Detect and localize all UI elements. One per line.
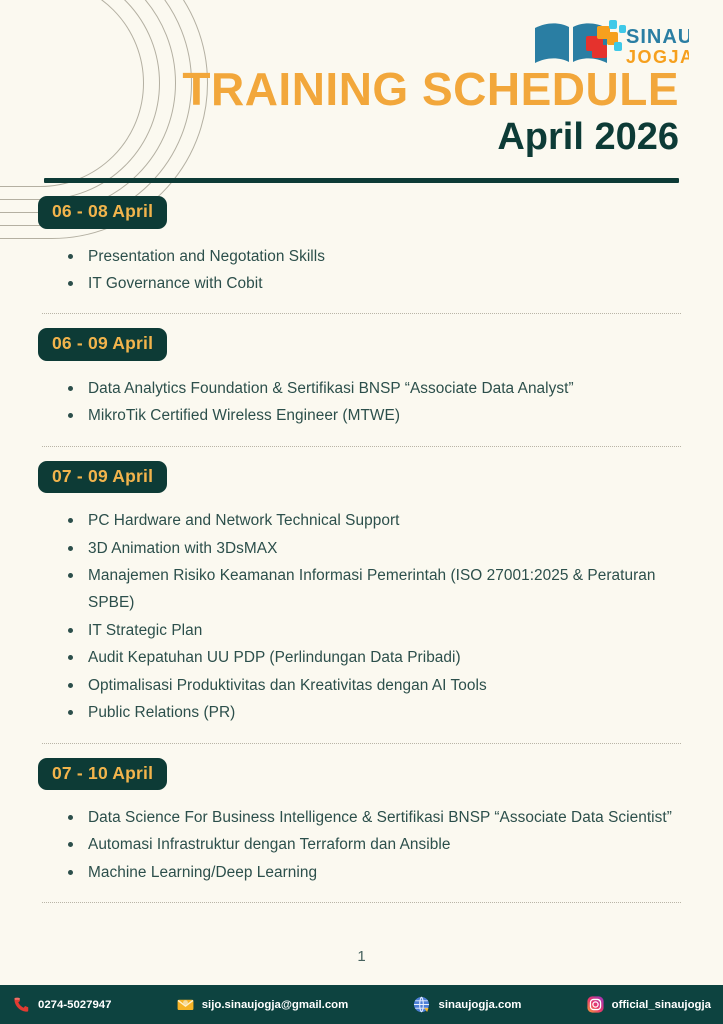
schedule-section: 06 - 08 April Presentation and Negotatio… — [38, 196, 685, 297]
contact-footer: 0274-5027947 sijo.sinaujogja@gmail.com s… — [0, 985, 723, 1024]
list-item: 3D Animation with 3DsMAX — [66, 535, 675, 562]
contact-website-label: sinaujogja.com — [438, 999, 521, 1011]
title-underline-rule — [44, 178, 679, 183]
page-title: TRAINING SCHEDULE — [0, 66, 679, 113]
list-item: IT Strategic Plan — [66, 617, 675, 644]
list-item: Automasi Infrastruktur dengan Terraform … — [66, 831, 675, 858]
list-item: Public Relations (PR) — [66, 699, 675, 726]
section-divider — [42, 902, 681, 903]
schedule-section: 07 - 10 April Data Science For Business … — [38, 758, 685, 887]
course-list: Data Analytics Foundation & Sertifikasi … — [38, 375, 685, 430]
list-item: Data Analytics Foundation & Sertifikasi … — [66, 375, 675, 402]
open-book-icon: SINAU JOGJA — [529, 14, 689, 72]
contact-email[interactable]: sijo.sinaujogja@gmail.com — [176, 995, 349, 1014]
envelope-icon — [176, 995, 195, 1014]
list-item: PC Hardware and Network Technical Suppor… — [66, 507, 675, 534]
sinau-jogja-logo: SINAU JOGJA — [529, 14, 689, 72]
contact-instagram[interactable]: official_sinaujogja — [586, 995, 711, 1014]
list-item: Machine Learning/Deep Learning — [66, 859, 675, 886]
section-divider — [42, 446, 681, 447]
page-number: 1 — [0, 948, 723, 965]
contact-instagram-label: official_sinaujogja — [612, 999, 711, 1011]
page-header: TRAINING SCHEDULE April 2026 — [0, 66, 723, 159]
section-divider — [42, 743, 681, 744]
list-item: Manajemen Risiko Keamanan Informasi Peme… — [66, 562, 675, 617]
svg-text:SINAU: SINAU — [626, 26, 689, 48]
svg-text:JOGJA: JOGJA — [626, 47, 689, 67]
section-divider — [42, 313, 681, 314]
schedule-section: 06 - 09 April Data Analytics Foundation … — [38, 328, 685, 429]
date-badge[interactable]: 06 - 08 April — [38, 196, 167, 229]
contact-email-label: sijo.sinaujogja@gmail.com — [202, 999, 349, 1011]
date-badge[interactable]: 07 - 10 April — [38, 758, 167, 791]
list-item: Optimalisasi Produktivitas dan Kreativit… — [66, 672, 675, 699]
date-badge[interactable]: 06 - 09 April — [38, 328, 167, 361]
course-list: PC Hardware and Network Technical Suppor… — [38, 507, 685, 726]
contact-phone[interactable]: 0274-5027947 — [12, 995, 111, 1014]
date-badge[interactable]: 07 - 09 April — [38, 461, 167, 494]
contact-phone-label: 0274-5027947 — [38, 999, 111, 1011]
course-list: Presentation and Negotation Skills IT Go… — [38, 243, 685, 298]
globe-icon — [412, 995, 431, 1014]
course-list: Data Science For Business Intelligence &… — [38, 804, 685, 886]
schedule-sections: 06 - 08 April Presentation and Negotatio… — [38, 196, 685, 917]
list-item: MikroTik Certified Wireless Engineer (MT… — [66, 402, 675, 429]
contact-website[interactable]: sinaujogja.com — [412, 995, 521, 1014]
list-item: IT Governance with Cobit — [66, 270, 675, 297]
telephone-icon — [12, 995, 31, 1014]
page-subtitle: April 2026 — [0, 117, 679, 159]
instagram-icon — [586, 995, 605, 1014]
list-item: Data Science For Business Intelligence &… — [66, 804, 675, 831]
list-item: Audit Kepatuhan UU PDP (Perlindungan Dat… — [66, 644, 675, 671]
schedule-section: 07 - 09 April PC Hardware and Network Te… — [38, 461, 685, 727]
list-item: Presentation and Negotation Skills — [66, 243, 675, 270]
